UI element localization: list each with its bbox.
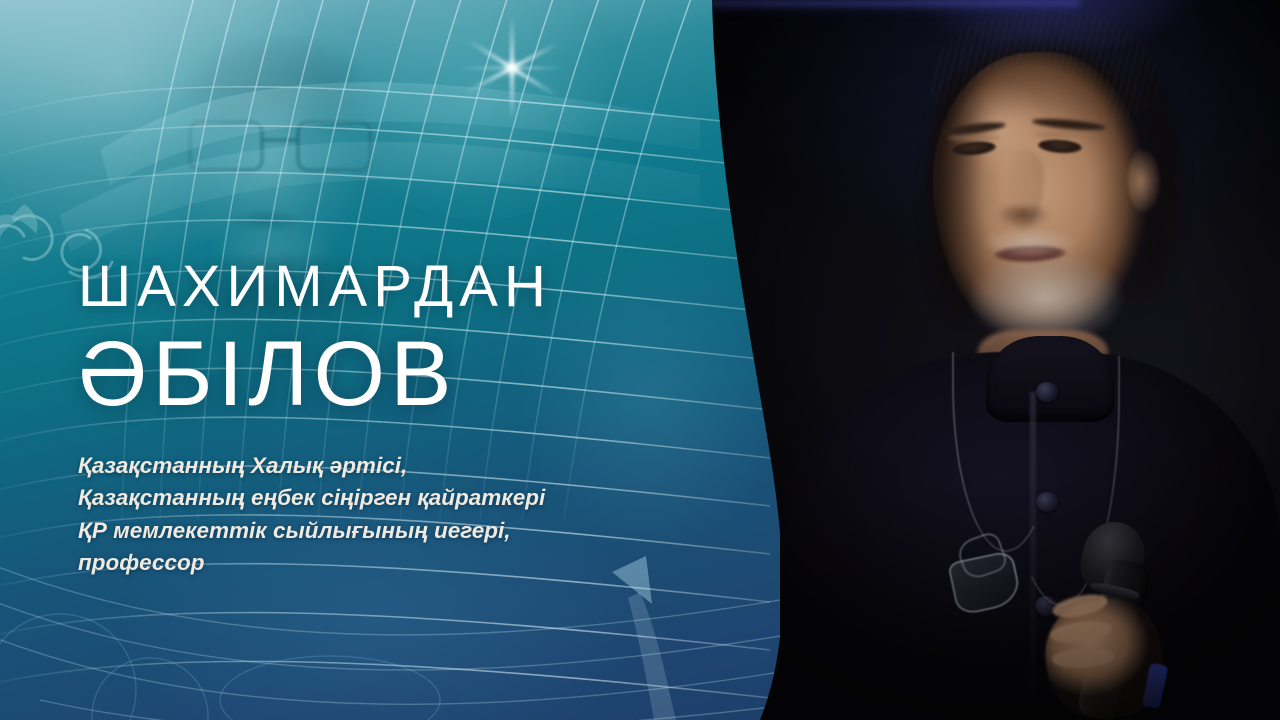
title-line: ҚР мемлекеттік сыйлығының иегері, [78,515,698,547]
person-titles: Қазақстанның Халық әртісі, Қазақстанның … [78,450,698,580]
nose-shadow [996,206,1050,228]
person-last-name: ӘБІЛОВ [78,328,698,420]
slide-canvas: ШАХИМАРДАН ӘБІЛОВ Қазақстанның Халық әрт… [0,0,1280,720]
person-first-name: ШАХИМАРДАН [78,258,698,316]
title-line: Қазақстанның еңбек сіңірген қайраткері [78,482,698,514]
eyelid-left [948,134,1000,141]
title-text-block: ШАХИМАРДАН ӘБІЛОВ Қазақстанның Халық әрт… [78,258,698,580]
eyelid-right [1034,131,1090,138]
ear-right [1128,150,1160,212]
moustache [984,228,1076,256]
title-line: профессор [78,547,698,579]
title-line: Қазақстанның Халық әртісі, [78,450,698,482]
